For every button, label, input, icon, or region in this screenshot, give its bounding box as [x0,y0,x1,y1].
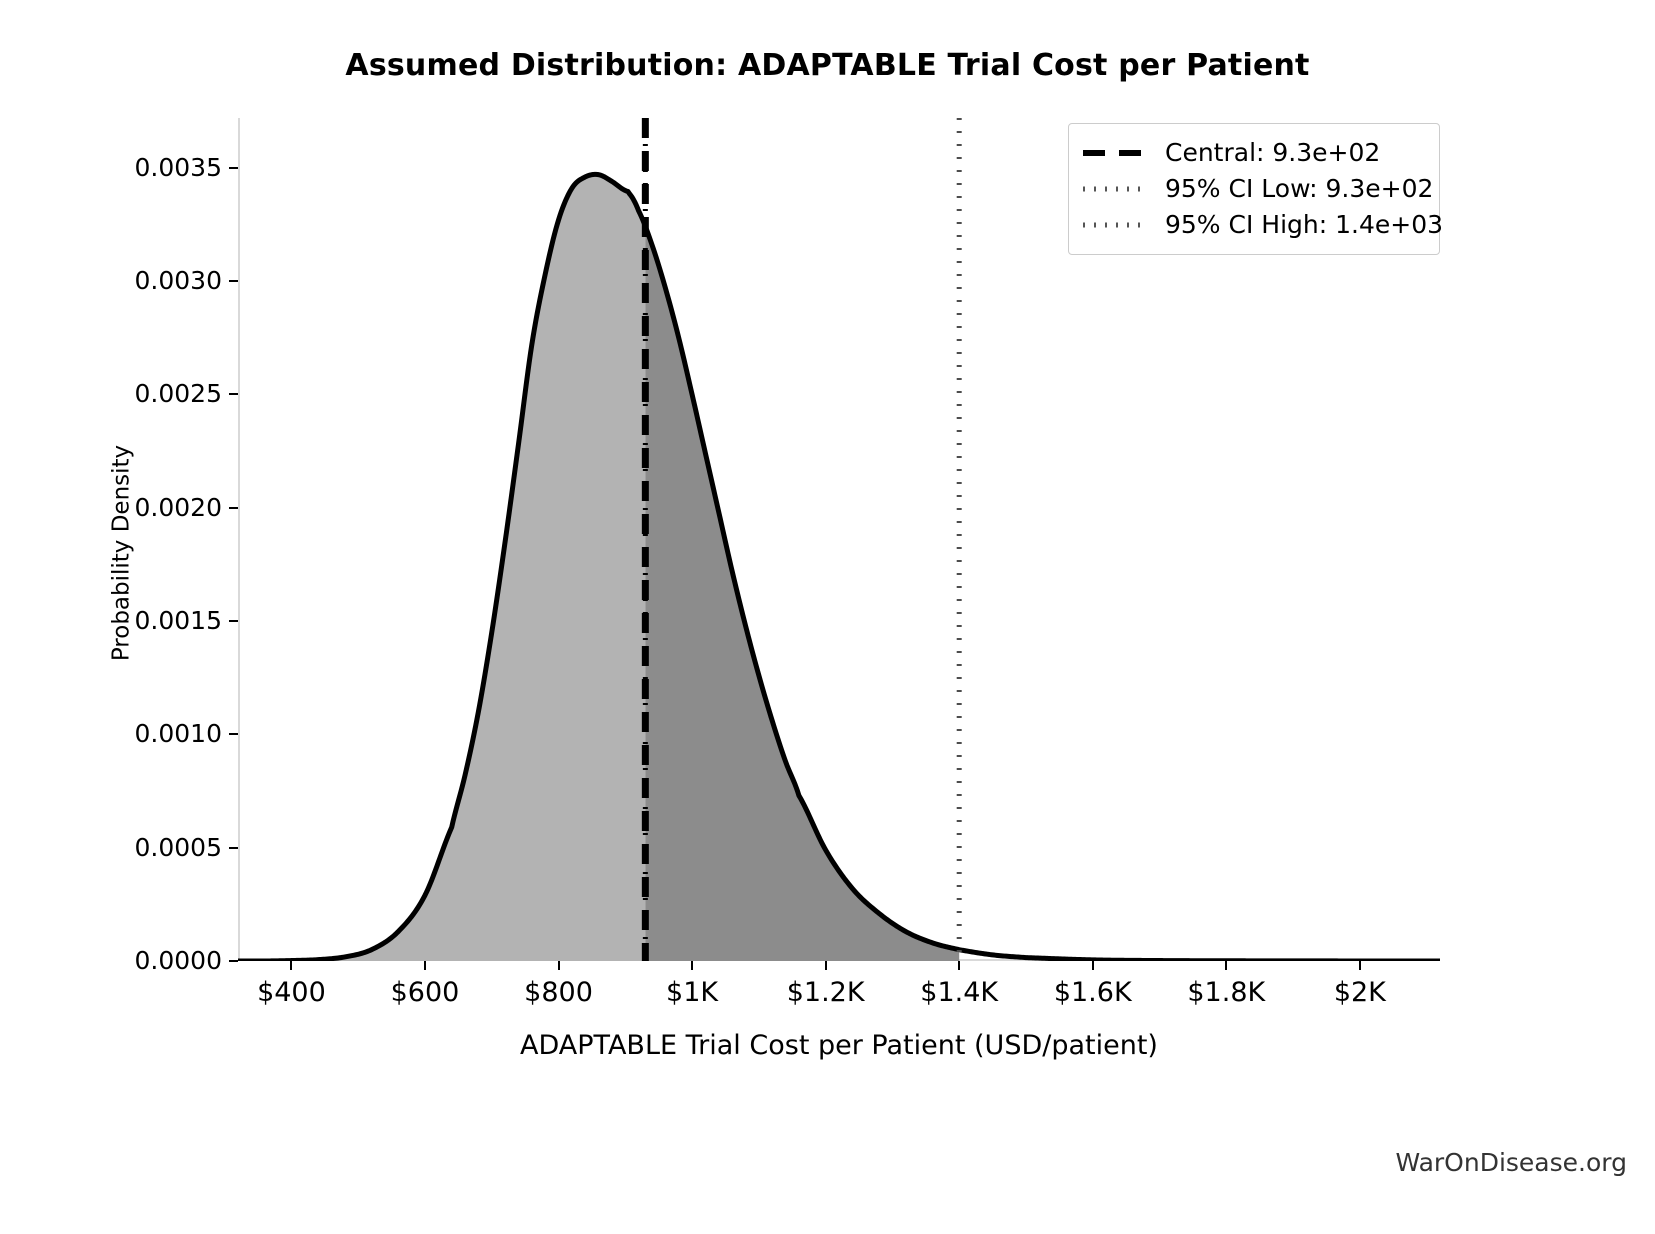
x-tick-mark [1092,961,1094,970]
chart-figure: Assumed Distribution: ADAPTABLE Trial Co… [0,0,1655,1234]
dotted-line-icon [1081,179,1151,199]
watermark: WarOnDisease.org [1395,1148,1627,1177]
legend-label-ci-low: 95% CI Low: 9.3e+02 [1165,175,1433,203]
x-tick-label: $2K [1260,978,1460,1008]
distribution-fills [238,174,959,961]
x-tick-mark [691,961,693,970]
fill-central-to-ci-high [645,226,959,961]
y-tick-mark [229,960,238,962]
density-curve-line [238,174,1440,961]
y-tick-label: 0.0005 [72,835,222,861]
legend-item-ci-high: 95% CI High: 1.4e+03 [1081,207,1427,243]
y-tick-label: 0.0015 [72,608,222,634]
legend-label-central: Central: 9.3e+02 [1165,139,1380,167]
x-axis-label: ADAPTABLE Trial Cost per Patient (USD/pa… [238,1030,1440,1061]
fill-left-of-central [238,174,645,961]
x-tick-mark [424,961,426,970]
y-tick-label: 0.0035 [72,155,222,181]
y-tick-mark [229,393,238,395]
legend-label-ci-high: 95% CI High: 1.4e+03 [1165,211,1443,239]
y-tick-label: 0.0025 [72,381,222,407]
y-tick-mark [229,847,238,849]
x-tick-mark [1359,961,1361,970]
y-tick-label: 0.0020 [72,495,222,521]
legend-item-central: Central: 9.3e+02 [1081,135,1427,171]
y-tick-label: 0.0030 [72,268,222,294]
y-tick-label: 0.0000 [72,948,222,974]
y-tick-label: 0.0010 [72,721,222,747]
x-tick-mark [825,961,827,970]
y-tick-mark [229,507,238,509]
x-tick-mark [958,961,960,970]
dotted-line-icon [1081,215,1151,235]
y-tick-mark [229,620,238,622]
y-tick-mark [229,733,238,735]
x-tick-mark [1225,961,1227,970]
y-tick-mark [229,167,238,169]
chart-title: Assumed Distribution: ADAPTABLE Trial Co… [0,48,1655,83]
x-tick-mark [558,961,560,970]
legend-item-ci-low: 95% CI Low: 9.3e+02 [1081,171,1427,207]
y-tick-mark [229,280,238,282]
dashed-line-icon [1081,143,1151,163]
x-tick-mark [290,961,292,970]
chart-legend: Central: 9.3e+02 95% CI Low: 9.3e+02 95%… [1068,123,1440,255]
